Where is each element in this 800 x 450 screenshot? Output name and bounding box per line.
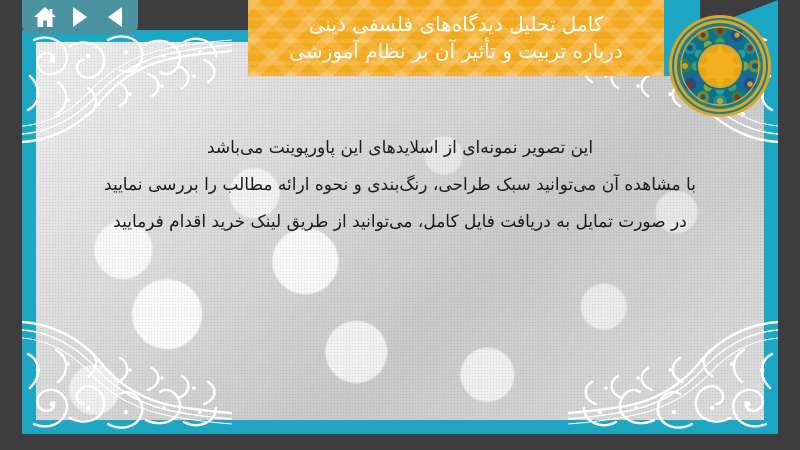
slide-canvas: این تصویر نمونه‌ای از اسلایدهای این پاور…: [22, 30, 778, 434]
slide-title-banner: کامل تحلیل دیدگاه‌های فلسفی دینی درباره …: [248, 0, 700, 76]
body-line-2: با مشاهده آن می‌توانید سبک طراحی، رنگ‌بن…: [62, 167, 738, 204]
presentation-viewer: این تصویر نمونه‌ای از اسلایدهای این پاور…: [0, 0, 800, 450]
banner-title-body: کامل تحلیل دیدگاه‌های فلسفی دینی درباره …: [248, 0, 664, 76]
slide-navigation-bar[interactable]: [22, 0, 138, 34]
slide-body-text: این تصویر نمونه‌ای از اسلایدهای این پاور…: [62, 130, 738, 241]
previous-slide-button[interactable]: [101, 3, 129, 31]
body-line-1: این تصویر نمونه‌ای از اسلایدهای این پاور…: [62, 130, 738, 167]
title-line-1: کامل تحلیل دیدگاه‌های فلسفی دینی: [309, 11, 604, 38]
home-icon: [33, 6, 57, 29]
islamic-medallion-ornament: [668, 14, 772, 118]
next-slide-button[interactable]: [66, 3, 94, 31]
triangle-right-icon: [73, 7, 87, 27]
home-button[interactable]: [31, 3, 59, 31]
triangle-left-icon: [108, 7, 122, 27]
title-line-2: درباره تربیت و تأثیر آن بر نظام آموزشی: [289, 38, 623, 65]
body-line-3: در صورت تمایل به دریافت فایل کامل، می‌تو…: [62, 204, 738, 241]
